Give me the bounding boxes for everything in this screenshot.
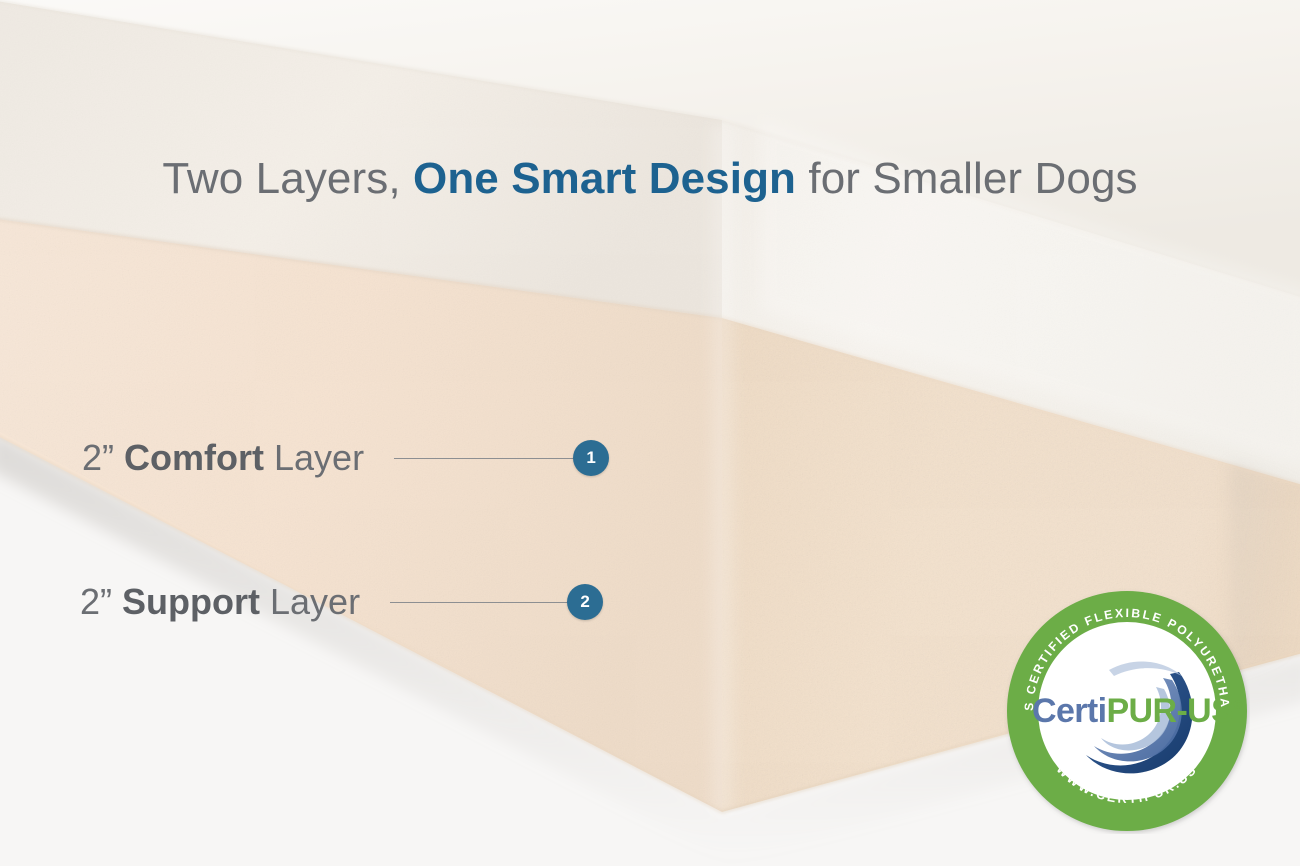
- seal-wordmark: CertiPUR-US®: [1032, 692, 1243, 730]
- callout-support-badge: 2: [567, 584, 603, 620]
- callout-support-label: 2” Support Layer: [80, 578, 360, 626]
- callout-support-leader-line: [390, 602, 573, 603]
- callout-comfort-leader-line: [394, 458, 579, 459]
- comfort-thickness: 2”: [82, 437, 124, 478]
- layer-seam-right: [722, 318, 1300, 487]
- comfort-suffix: Layer: [264, 437, 364, 478]
- product-infographic: Two Layers, One Smart Design for Smaller…: [0, 0, 1300, 866]
- certipur-seal-svg: CertiPUR-US® CONTAINS CERTIFIED FLEXIBLE…: [1004, 588, 1250, 834]
- layer-seam-left: [0, 218, 722, 318]
- seal-wordmark-certi: Certi: [1032, 692, 1106, 730]
- top-edge-left: [0, 0, 722, 120]
- callout-comfort-layer: 2” Comfort Layer 1: [82, 434, 609, 482]
- headline-part-2: for Smaller Dogs: [796, 154, 1138, 203]
- callout-support-layer: 2” Support Layer 2: [80, 578, 603, 626]
- support-suffix: Layer: [260, 581, 360, 622]
- corner-highlight: [706, 124, 738, 814]
- certipur-us-seal: CertiPUR-US® CONTAINS CERTIFIED FLEXIBLE…: [1004, 588, 1250, 834]
- top-edge-right: [722, 120, 1300, 300]
- support-name: Support: [122, 581, 260, 622]
- callout-comfort-badge: 1: [573, 440, 609, 476]
- headline-accent: One Smart Design: [413, 154, 796, 203]
- callout-comfort-label: 2” Comfort Layer: [82, 434, 364, 482]
- support-left-grain: [0, 200, 760, 840]
- support-layer-left-face: [0, 218, 722, 812]
- seal-registered-mark: ®: [1233, 697, 1243, 712]
- comfort-name: Comfort: [124, 437, 264, 478]
- support-thickness: 2”: [80, 581, 122, 622]
- page-title: Two Layers, One Smart Design for Smaller…: [0, 150, 1300, 208]
- seal-wordmark-pur-us: PUR-US: [1106, 692, 1233, 730]
- headline-part-1: Two Layers,: [162, 154, 413, 203]
